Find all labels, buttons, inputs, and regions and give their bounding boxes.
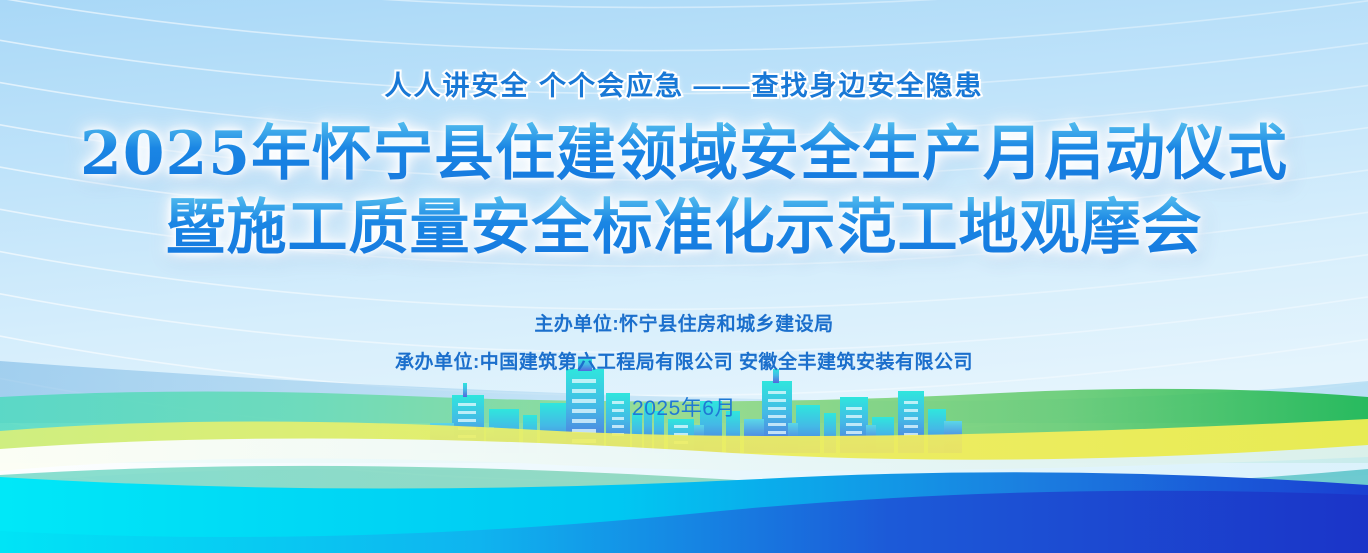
poster-slogan: 人人讲安全 个个会应急 ——查找身边安全隐患: [0, 64, 1368, 103]
host-organization: 主办单位:怀宁县住房和城乡建设局: [0, 309, 1368, 336]
poster-title-line-1: 2025年怀宁县住建领域安全生产月启动仪式: [80, 117, 1288, 191]
poster-title-line-2: 暨施工质量安全标准化示范工地观摩会: [166, 191, 1203, 265]
poster-canvas: 人人讲安全 个个会应急 ——查找身边安全隐患 2025年怀宁县住建领域安全生产月…: [0, 0, 1368, 553]
poster-content: 人人讲安全 个个会应急 ——查找身边安全隐患 2025年怀宁县住建领域安全生产月…: [0, 0, 1368, 422]
event-date: 2025年6月: [0, 392, 1368, 422]
poster-title: 2025年怀宁县住建领域安全生产月启动仪式 暨施工质量安全标准化示范工地观摩会: [0, 117, 1368, 265]
co-organizer-organizations: 承办单位:中国建筑第六工程局有限公司 安徽全丰建筑安装有限公司: [0, 347, 1368, 374]
organizer-block: 主办单位:怀宁县住房和城乡建设局 承办单位:中国建筑第六工程局有限公司 安徽全丰…: [0, 309, 1368, 422]
